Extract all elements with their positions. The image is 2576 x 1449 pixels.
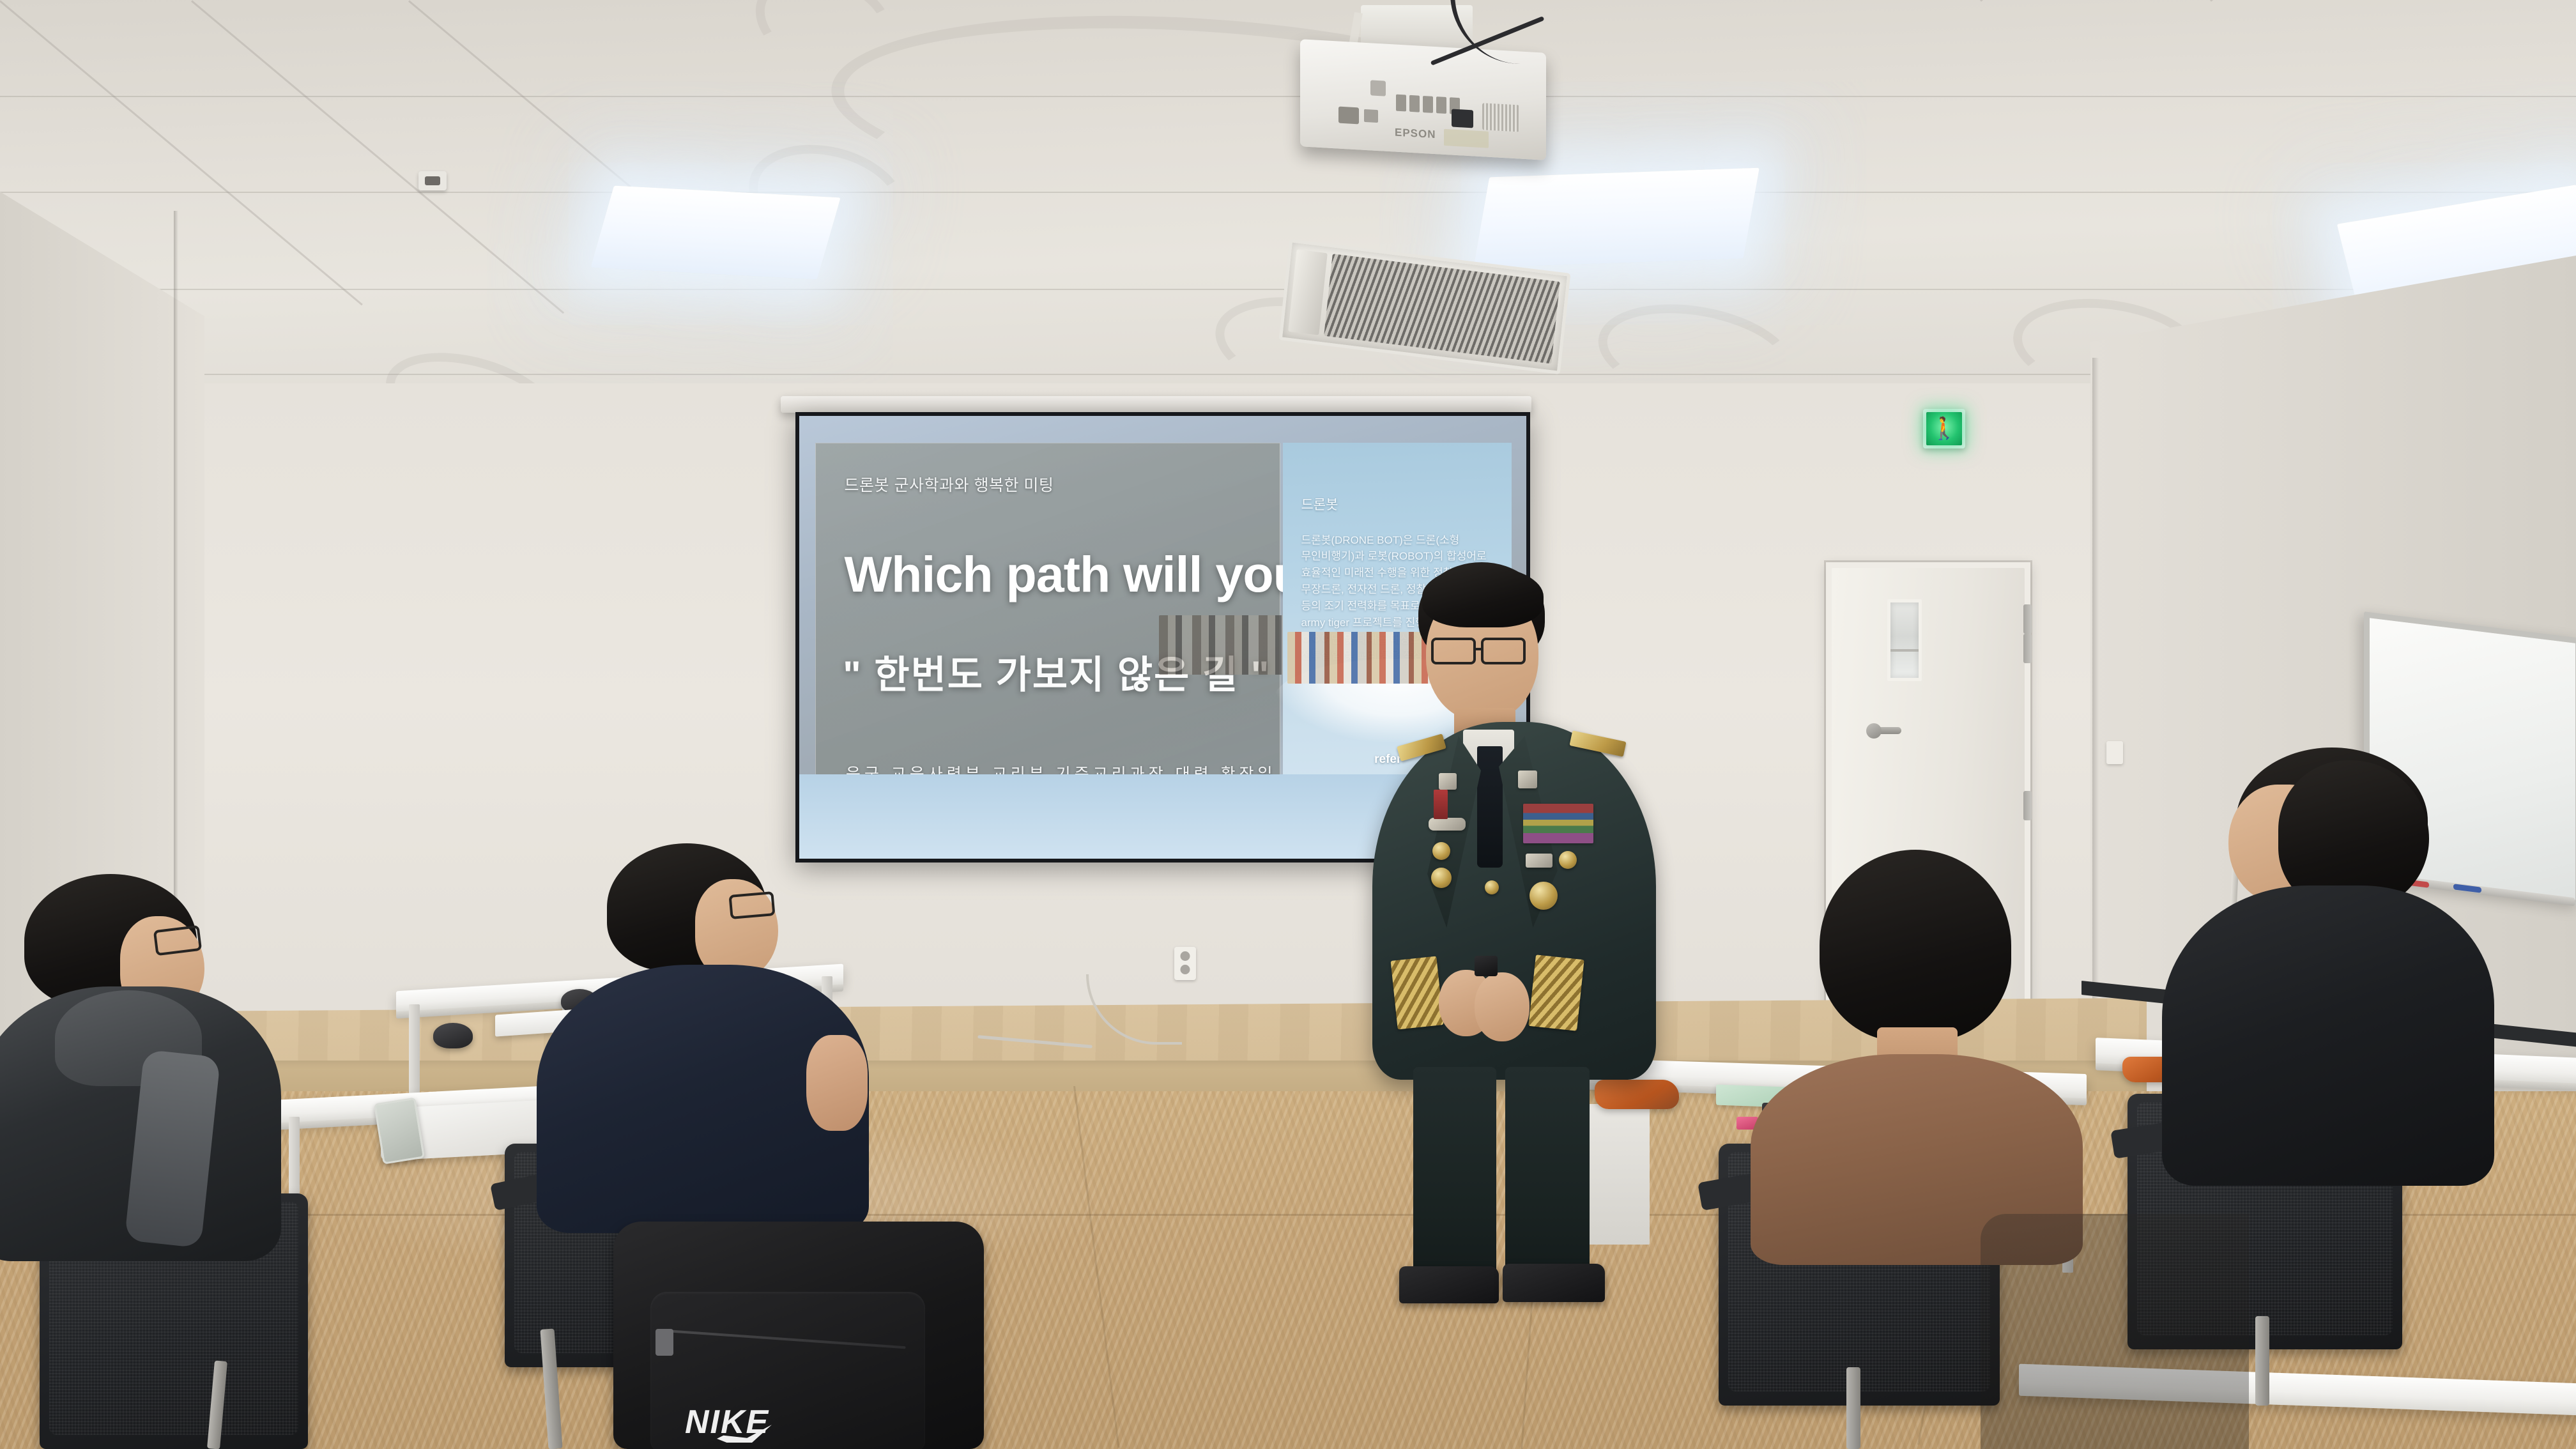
container-ship-image-left xyxy=(1159,615,1297,675)
emergency-exit-sign: 🚶 비상구 xyxy=(1923,409,1965,448)
presenter-trousers-right xyxy=(1505,1067,1590,1278)
backpack-zipper-pull[interactable] xyxy=(655,1329,673,1356)
presenter-cuff-braid-right xyxy=(1528,954,1584,1031)
student-3-hair xyxy=(1820,850,2011,1041)
presenter-cuff-braid-left xyxy=(1391,956,1444,1030)
student-3 xyxy=(1751,850,2083,1246)
presenter-glasses-right-lens xyxy=(1481,638,1526,664)
presenter-belt-buckle xyxy=(1529,882,1558,910)
ceiling-light-panel-center xyxy=(1473,168,1759,268)
nike-wordmark: NIKE xyxy=(685,1403,769,1441)
presenter-ribbon-rack xyxy=(1523,804,1593,843)
presenter-medal-ribbon xyxy=(1434,790,1448,819)
classroom-scene: EPSON 드론봇 군사학과와 행복한 미팅 Which path will y… xyxy=(0,0,2576,1449)
projector-brand-label: EPSON xyxy=(1395,126,1436,142)
right-panel-heading: 드론봇 xyxy=(1301,494,1338,514)
presenter-shoe-left xyxy=(1399,1266,1499,1303)
presenter-medal xyxy=(1432,842,1450,860)
presenter-colonel xyxy=(1367,562,1661,1297)
presenter-necktie xyxy=(1477,746,1503,868)
computer-mouse-1[interactable] xyxy=(433,1023,473,1048)
presenter-hand-right xyxy=(1475,972,1529,1041)
door-window xyxy=(1887,599,1922,681)
presentation-clicker[interactable] xyxy=(1475,956,1498,976)
running-man-icon: 🚶 xyxy=(1931,418,1958,440)
ceiling-light-panel-left xyxy=(590,186,840,280)
foreground-shadow xyxy=(1981,1214,2249,1449)
projection-screen-housing xyxy=(781,396,1531,413)
student-4-shirt xyxy=(2162,885,2494,1186)
smoke-detector-icon xyxy=(418,171,447,190)
presenter-shoe-right xyxy=(1503,1264,1605,1302)
presenter-trousers-left xyxy=(1413,1067,1496,1278)
student-2-glasses xyxy=(728,891,775,919)
door-handle[interactable] xyxy=(1874,727,1901,734)
light-switch[interactable] xyxy=(2106,741,2123,764)
presenter-qualification-badge xyxy=(1429,818,1466,831)
student-2-arm xyxy=(806,1035,868,1131)
student-1 xyxy=(0,874,332,1270)
nike-backpack[interactable] xyxy=(613,1222,984,1449)
slide-kicker-text: 드론봇 군사학과와 행복한 미팅 xyxy=(845,473,1054,496)
student-4 xyxy=(2153,747,2485,1195)
student-2 xyxy=(530,843,888,1239)
presenter-glasses xyxy=(1431,638,1476,664)
presenter-name-badge xyxy=(1526,854,1552,868)
